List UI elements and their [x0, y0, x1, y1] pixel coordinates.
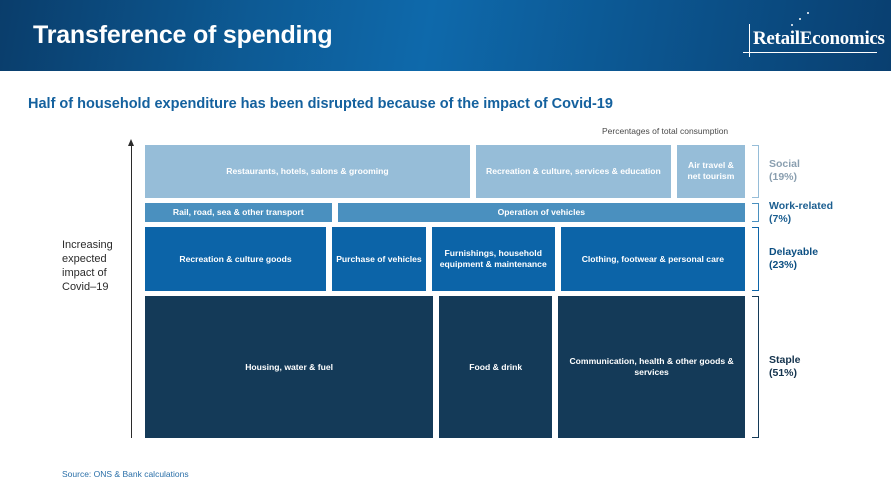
chart-block-label: Purchase of vehicles	[336, 254, 422, 265]
retail-economics-logo: RetailEconomics	[739, 8, 879, 63]
chart-block-label: Rail, road, sea & other transport	[173, 207, 304, 218]
category-name: Delayable	[769, 246, 818, 259]
axis-label: Increasing expected impact of Covid–19	[62, 238, 130, 294]
chart-block: Rail, road, sea & other transport	[145, 203, 332, 222]
percentages-note: Percentages of total consumption	[602, 126, 728, 136]
chart-block-label: Operation of vehicles	[498, 207, 585, 218]
logo-horizontal-rule	[743, 52, 877, 53]
page-header: Transference of spending RetailEconomics	[0, 0, 891, 71]
source-note: Source: ONS & Bank calculations	[62, 469, 189, 479]
chart-block: Recreation & culture goods	[145, 227, 326, 291]
impact-axis-arrow-icon	[131, 145, 132, 438]
page-title: Transference of spending	[33, 21, 332, 50]
category-name: Social	[769, 158, 800, 171]
category-label: Delayable(23%)	[769, 246, 818, 272]
subtitle: Half of household expenditure has been d…	[28, 96, 613, 112]
chart-block: Recreation & culture, services & educati…	[476, 145, 671, 198]
logo-text: RetailEconomics	[753, 28, 885, 50]
chart-block: Restaurants, hotels, salons & grooming	[145, 145, 470, 198]
category-label: Work-related(7%)	[769, 200, 833, 226]
chart-block: Operation of vehicles	[338, 203, 745, 222]
chart-block: Air travel & net tourism	[677, 145, 745, 198]
category-bracket	[752, 296, 759, 438]
category-percent: (19%)	[769, 171, 800, 184]
chart-block-label: Recreation & culture goods	[179, 254, 291, 265]
chart-block-label: Restaurants, hotels, salons & grooming	[226, 166, 388, 177]
chart-block: Furnishings, household equipment & maint…	[432, 227, 555, 291]
chart-block: Food & drink	[439, 296, 552, 438]
category-name: Staple	[769, 354, 801, 367]
chart-block-label: Recreation & culture, services & educati…	[486, 166, 661, 177]
chart-block-label: Furnishings, household equipment & maint…	[436, 248, 551, 270]
category-percent: (51%)	[769, 367, 801, 380]
category-percent: (23%)	[769, 259, 818, 272]
chart-block: Clothing, footwear & personal care	[561, 227, 745, 291]
category-label: Staple(51%)	[769, 354, 801, 380]
chart-block-label: Housing, water & fuel	[245, 362, 333, 373]
chart-block: Communication, health & other goods & se…	[558, 296, 745, 438]
category-bracket	[752, 145, 759, 198]
chart-block: Housing, water & fuel	[145, 296, 433, 438]
logo-dot-icon	[791, 24, 793, 26]
category-percent: (7%)	[769, 213, 833, 226]
category-label: Social(19%)	[769, 158, 800, 184]
chart-block: Purchase of vehicles	[332, 227, 426, 291]
chart-block-label: Clothing, footwear & personal care	[582, 254, 724, 265]
chart-block-label: Air travel & net tourism	[681, 160, 741, 182]
logo-dot-icon	[807, 12, 809, 14]
category-bracket	[752, 203, 759, 222]
category-bracket	[752, 227, 759, 291]
chart-block-label: Food & drink	[469, 362, 522, 373]
logo-dot-icon	[799, 18, 801, 20]
category-name: Work-related	[769, 200, 833, 213]
chart-block-label: Communication, health & other goods & se…	[562, 356, 741, 378]
